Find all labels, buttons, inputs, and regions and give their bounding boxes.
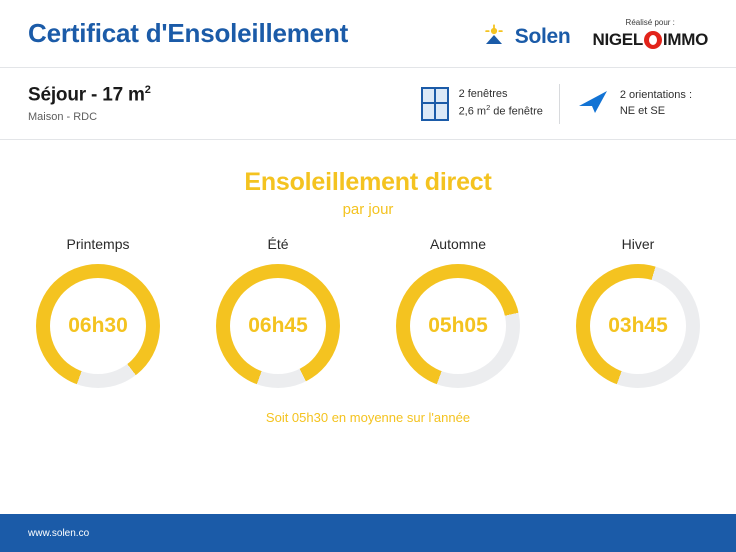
windows-count-label: 2 fenêtres [459,88,508,100]
orientation-fact-text: 2 orientations : NE et SE [620,88,692,120]
room-title: Séjour - 17 m2 [28,84,151,106]
partner-logo: NIGEL IMMO [592,30,708,50]
partner-name-right: IMMO [663,30,708,50]
donut-cell-2: Automne 05h05 [396,236,520,388]
donut-label-0: Printemps [66,236,129,252]
solen-logo: Solen [481,24,571,50]
page-footer: www.solen.co [0,514,736,552]
donut-gauge-3: 03h45 [576,264,700,388]
windows-fact-text: 2 fenêtres 2,6 m2 de fenêtre [459,87,543,121]
donut-value-1: 06h45 [216,264,340,388]
room-summary-bar: Séjour - 17 m2 Maison - RDC 2 fenêtres 2… [0,68,736,140]
donut-gauge-2: 05h05 [396,264,520,388]
donut-cell-0: Printemps 06h30 [36,236,160,388]
partner-block: Réalisé pour : NIGEL IMMO [592,18,708,50]
header-right-group: Solen Réalisé pour : NIGEL IMMO [481,18,708,50]
partner-label: Réalisé pour : [626,18,675,27]
window-icon [421,87,449,121]
orientation-fact: 2 orientations : NE et SE [560,86,708,121]
donut-gauge-0: 06h30 [36,264,160,388]
windows-area-prefix: 2,6 m [459,105,487,117]
main-content: Ensoleillement direct par jour Printemps… [0,140,736,496]
donut-value-0: 06h30 [36,264,160,388]
compass-arrow-icon [576,86,610,121]
donut-gauge-1: 06h45 [216,264,340,388]
certificate-page: Certificat d'Ensoleillement Solen Réalis… [0,0,736,552]
room-title-text: Séjour - 17 m [28,84,145,105]
donut-label-1: Été [267,236,288,252]
solen-brand-name: Solen [515,25,571,49]
orientation-count-label: 2 orientations : [620,89,692,101]
partner-name-left: NIGEL [592,30,642,50]
windows-area-suffix: de fenêtre [490,105,543,117]
donut-value-2: 05h05 [396,264,520,388]
donut-label-3: Hiver [622,236,655,252]
average-text: Soit 05h30 en moyenne sur l'année [0,410,736,425]
room-info: Séjour - 17 m2 Maison - RDC [28,84,151,123]
facts-group: 2 fenêtres 2,6 m2 de fenêtre 2 orientati… [405,84,708,124]
room-subtitle: Maison - RDC [28,111,151,123]
donut-cell-3: Hiver 03h45 [576,236,700,388]
page-title: Certificat d'Ensoleillement [28,18,348,49]
chart-title: Ensoleillement direct [0,168,736,197]
page-header: Certificat d'Ensoleillement Solen Réalis… [0,0,736,68]
donut-cell-1: Été 06h45 [216,236,340,388]
donut-chart-group: Printemps 06h30 Été 06h45 Automne 05h05 [0,236,736,388]
windows-fact: 2 fenêtres 2,6 m2 de fenêtre [405,87,559,121]
donut-label-2: Automne [430,236,486,252]
room-title-superscript: 2 [145,84,151,96]
ring-icon [644,31,662,49]
sun-icon [481,24,507,50]
donut-value-3: 03h45 [576,264,700,388]
orientation-values-label: NE et SE [620,105,665,117]
chart-subtitle: par jour [0,201,736,218]
footer-url[interactable]: www.solen.co [28,528,89,539]
